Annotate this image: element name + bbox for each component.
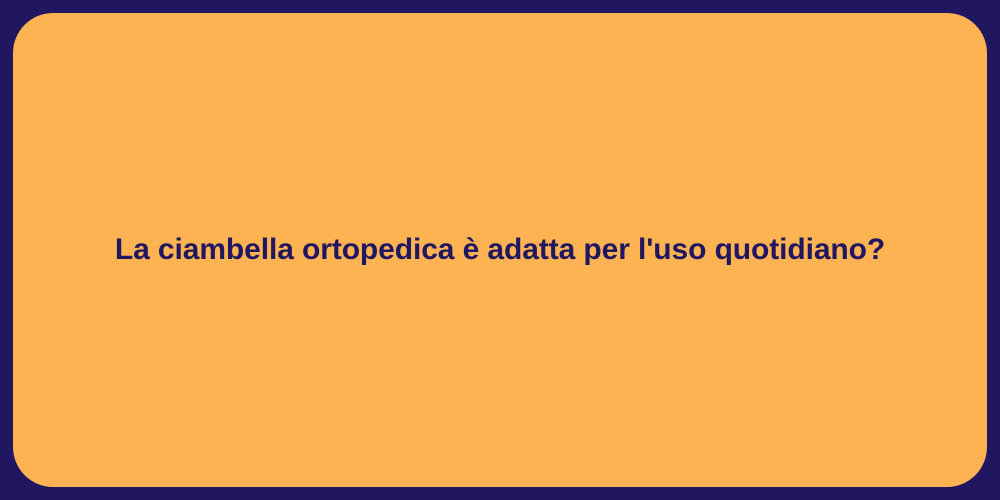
faq-card-panel: La ciambella ortopedica è adatta per l'u… <box>13 13 987 487</box>
faq-card-frame: La ciambella ortopedica è adatta per l'u… <box>0 0 1000 500</box>
faq-question-text: La ciambella ortopedica è adatta per l'u… <box>115 230 885 271</box>
